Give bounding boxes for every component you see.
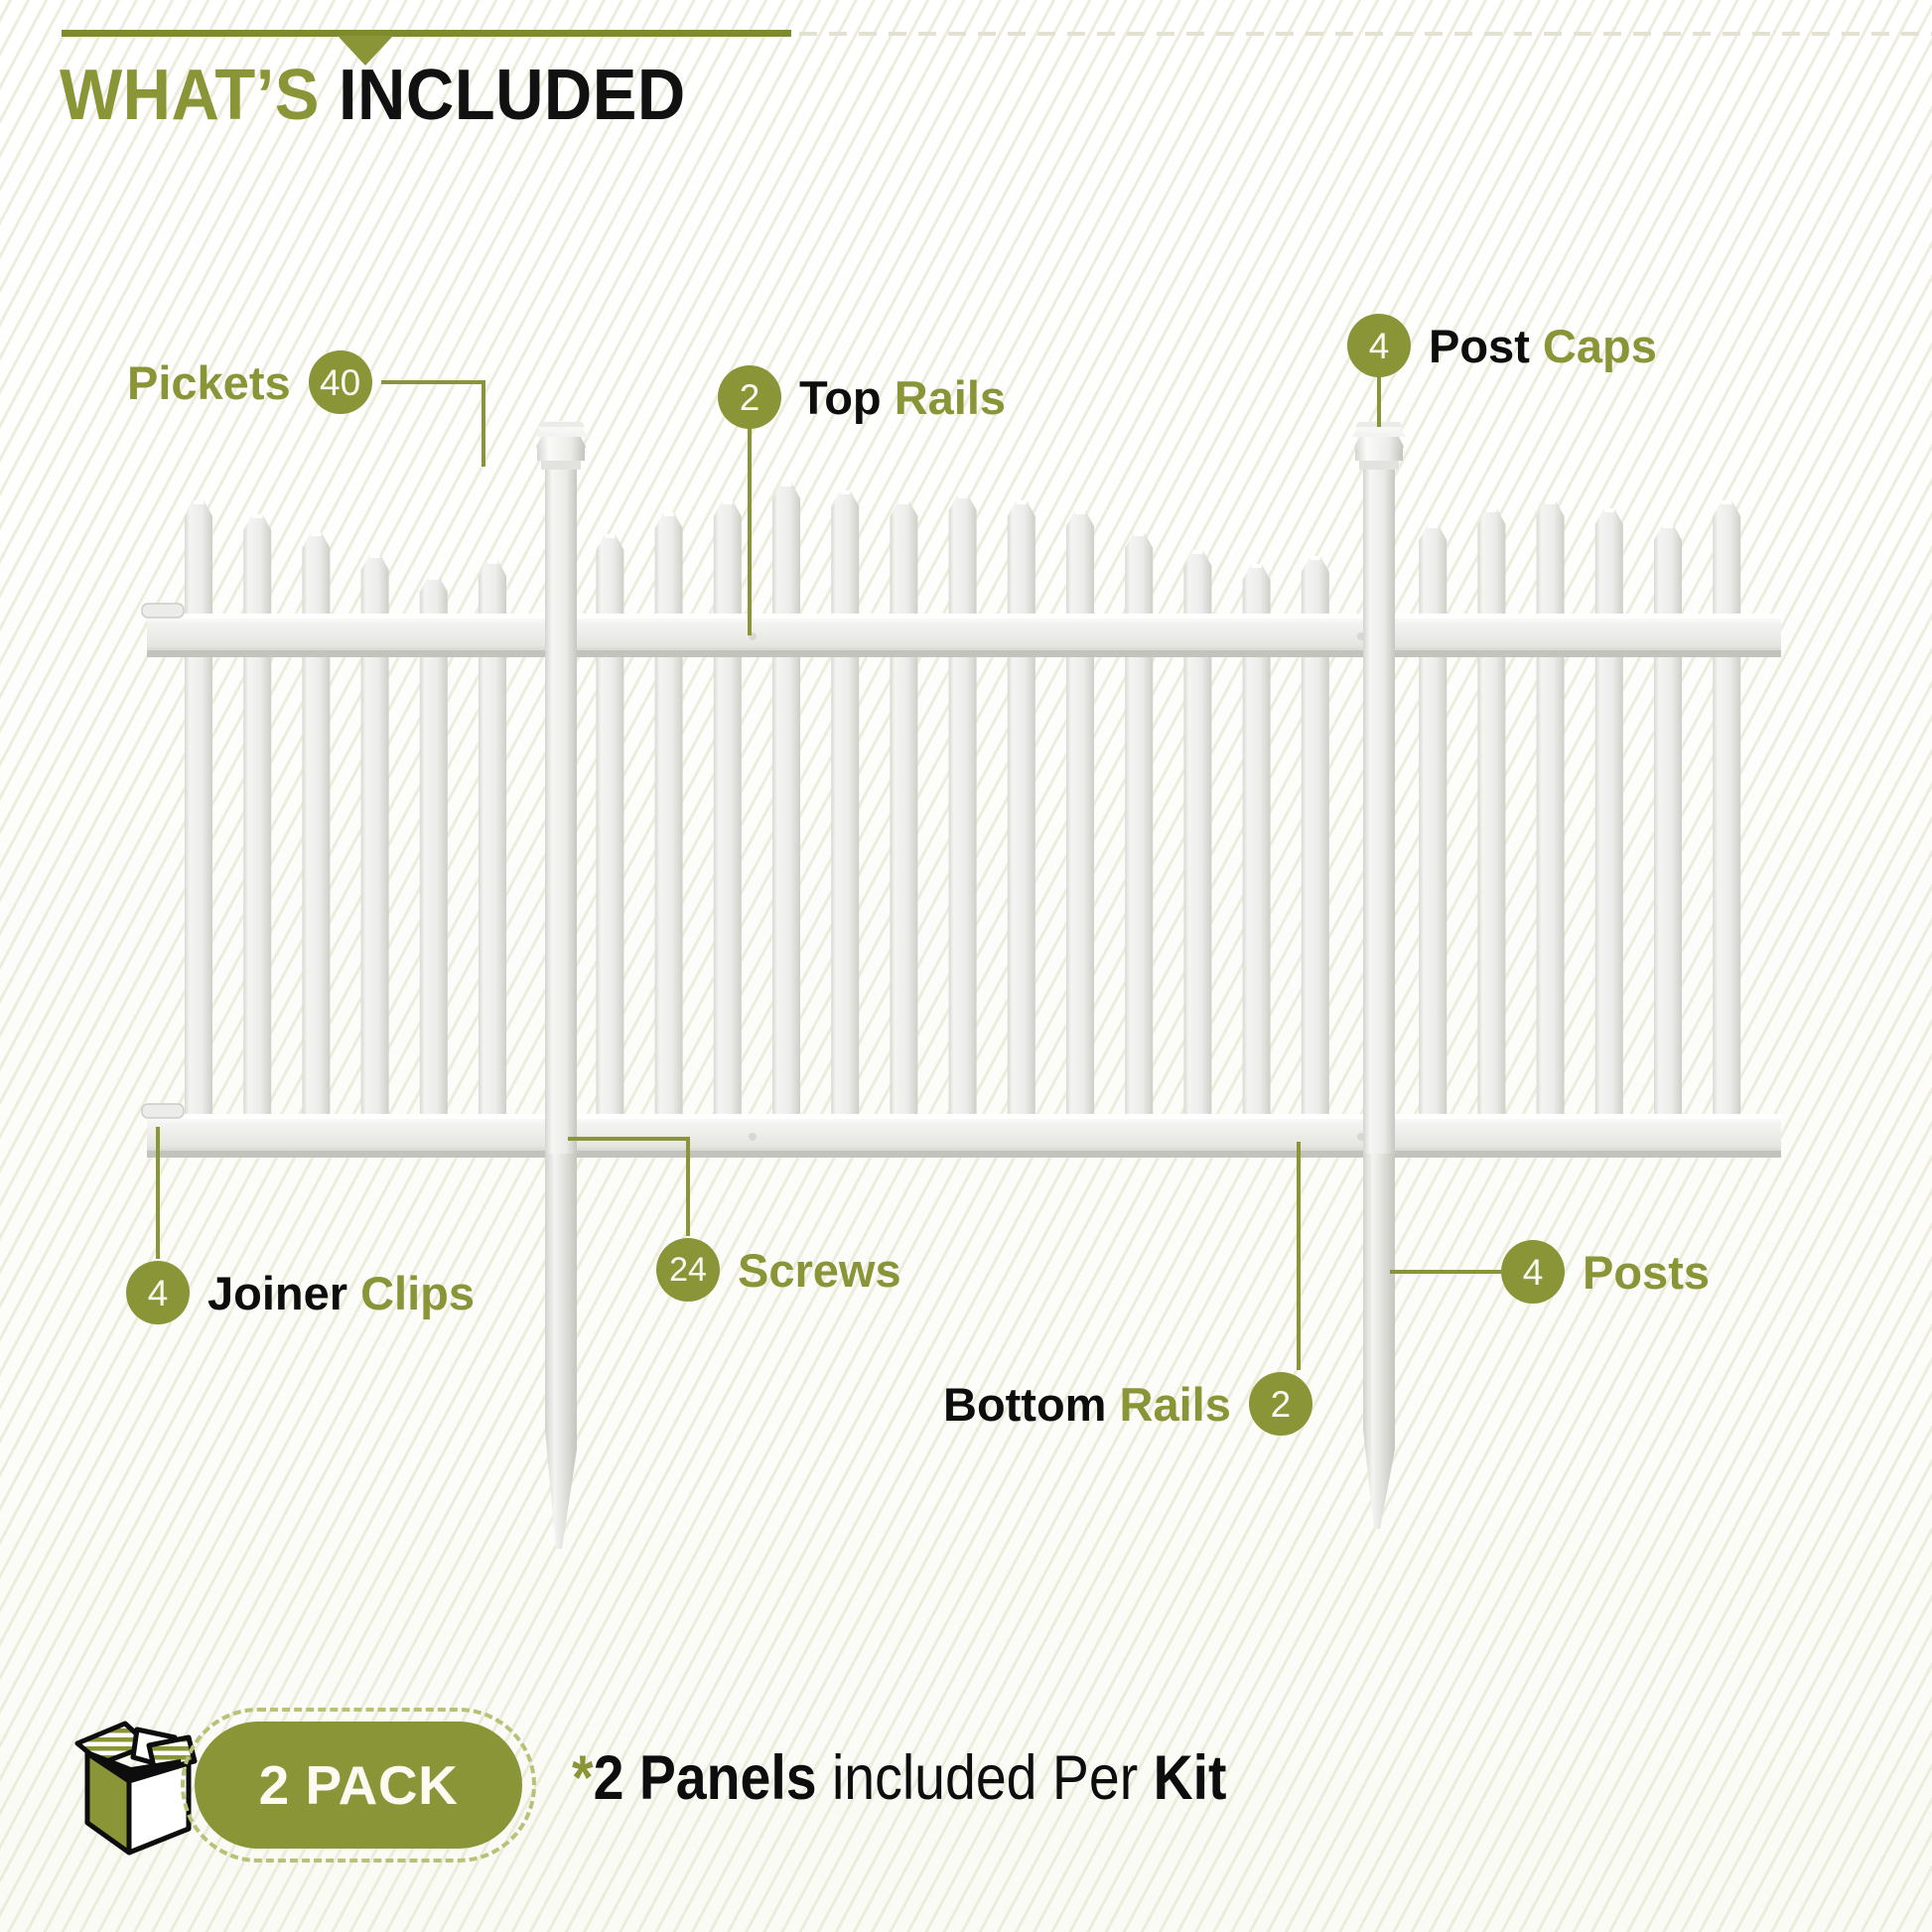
picket — [949, 494, 977, 1158]
bottom-rail — [147, 1114, 1781, 1158]
picket-top-highlight — [781, 483, 791, 486]
picket — [420, 576, 448, 1158]
picket-top-highlight — [1428, 524, 1438, 528]
picket-group — [185, 483, 1740, 1158]
picket-top-highlight — [194, 500, 204, 504]
callout-posts-label: Posts — [1583, 1249, 1710, 1296]
picket-top-highlight — [1251, 564, 1261, 568]
picket-top-highlight — [957, 494, 967, 498]
callout-post-caps-label: Post Caps — [1429, 323, 1657, 369]
page-title-green: WHAT’S — [60, 56, 320, 135]
picket-top-highlight — [723, 500, 733, 504]
picket — [831, 490, 859, 1158]
picket — [1066, 510, 1094, 1158]
footnote-asterisk: * — [572, 1743, 594, 1813]
footnote-bold-2: Kit — [1154, 1743, 1227, 1813]
callout-bottom-rails-badge: 2 — [1249, 1372, 1312, 1436]
picket-top-highlight — [1311, 556, 1320, 560]
pack-badge-label: 2 PACK — [259, 1753, 459, 1817]
footnote-bold-1: 2 Panels — [594, 1743, 817, 1813]
picket — [890, 500, 917, 1158]
picket-top-highlight — [1604, 508, 1614, 512]
picket — [243, 514, 271, 1158]
fence-post-right — [1352, 421, 1406, 1529]
picket — [1302, 556, 1329, 1158]
leader-lines — [158, 345, 1501, 1370]
callout-screws-label: Screws — [738, 1247, 901, 1294]
picket — [772, 483, 800, 1158]
picket — [1477, 508, 1505, 1158]
leader-pickets — [381, 382, 483, 467]
picket-top-highlight — [1545, 500, 1555, 504]
callout-screws-badge: 24 — [656, 1238, 720, 1302]
page-title: WHAT’S INCLUDED — [60, 55, 686, 136]
picket-top-highlight — [605, 534, 615, 538]
picket-top-highlight — [898, 500, 908, 504]
picket — [361, 554, 389, 1158]
post-cap-right — [1352, 421, 1406, 470]
picket — [1713, 500, 1740, 1158]
callout-top-rails[interactable]: 2 Top Rails — [718, 365, 1006, 429]
picket — [302, 532, 330, 1158]
picket-top-highlight — [369, 554, 379, 558]
picket — [1537, 500, 1565, 1158]
callout-top-rails-label: Top Rails — [799, 374, 1006, 421]
top-rail — [147, 614, 1781, 657]
footnote-normal: included Per — [817, 1743, 1154, 1813]
picket-top-highlight — [487, 560, 497, 564]
callout-pickets-badge: 40 — [309, 350, 372, 414]
header-rule-solid — [62, 30, 791, 37]
post-cap-left — [534, 421, 588, 470]
picket — [1125, 532, 1153, 1158]
picket — [479, 560, 506, 1158]
callout-joiner-clips-badge: 4 — [126, 1261, 190, 1324]
picket — [1183, 550, 1211, 1158]
picket-top-highlight — [840, 490, 850, 494]
joiner-clip-top-left — [142, 604, 184, 618]
picket — [655, 512, 683, 1158]
picket-top-highlight — [1134, 532, 1144, 536]
page-title-black: INCLUDED — [339, 56, 686, 135]
picket — [714, 500, 742, 1158]
infographic-canvas: WHAT’S INCLUDED — [0, 0, 1932, 1932]
picket-top-highlight — [1017, 500, 1027, 504]
picket-top-highlight — [429, 576, 439, 580]
callout-pickets-label: Pickets — [127, 359, 291, 406]
picket-top-highlight — [252, 514, 262, 518]
picket — [185, 500, 212, 1158]
callout-posts-badge: 4 — [1501, 1240, 1565, 1304]
callout-post-caps-badge: 4 — [1347, 314, 1411, 377]
pack-badge: 2 PACK — [195, 1722, 522, 1849]
fence-post-left — [534, 421, 588, 1549]
picket — [1419, 524, 1447, 1158]
callout-bottom-rails-label: Bottom Rails — [943, 1381, 1231, 1428]
callout-pickets[interactable]: Pickets 40 — [127, 350, 372, 414]
picket — [1008, 500, 1035, 1158]
picket — [1595, 508, 1623, 1158]
picket-top-highlight — [1075, 510, 1085, 514]
picket — [1654, 524, 1682, 1158]
callout-posts[interactable]: 4 Posts — [1501, 1240, 1710, 1304]
leader-screws — [568, 1139, 688, 1236]
callout-screws[interactable]: 24 Screws — [656, 1238, 901, 1302]
picket-top-highlight — [1663, 524, 1673, 528]
fence-illustration — [0, 0, 1932, 1932]
picket — [1243, 564, 1271, 1158]
callout-top-rails-badge: 2 — [718, 365, 781, 429]
picket-top-highlight — [1722, 500, 1731, 504]
picket-top-highlight — [663, 512, 673, 516]
callout-post-caps[interactable]: 4 Post Caps — [1347, 314, 1657, 377]
header-rule-dashed — [799, 32, 1932, 36]
picket-top-highlight — [1192, 550, 1202, 554]
picket-top-highlight — [1486, 508, 1496, 512]
callout-bottom-rails[interactable]: Bottom Rails 2 — [943, 1372, 1312, 1436]
picket — [596, 534, 623, 1158]
picket-top-highlight — [311, 532, 321, 536]
callout-joiner-clips-label: Joiner Clips — [207, 1270, 475, 1316]
joiner-clip-bottom-left — [142, 1104, 184, 1118]
footnote: *2 Panels included Per Kit — [572, 1742, 1226, 1814]
callout-joiner-clips[interactable]: 4 Joiner Clips — [126, 1261, 475, 1324]
